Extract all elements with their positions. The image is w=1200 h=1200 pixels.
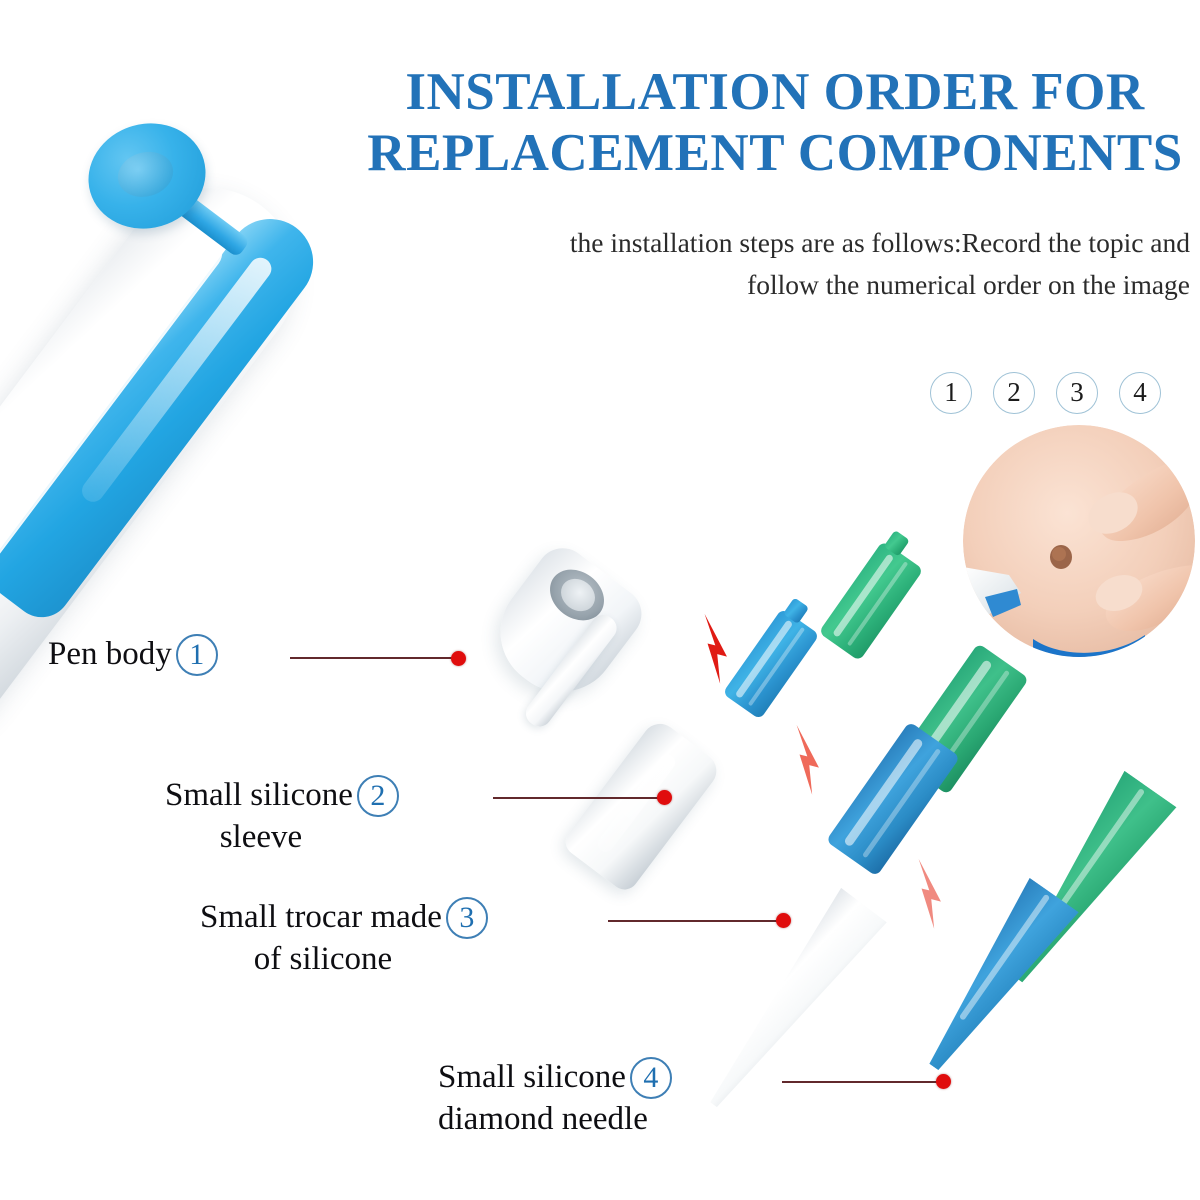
callout-diamond-needle-number[interactable]: 4 [630,1057,672,1099]
leader-dot-4 [936,1074,951,1089]
step-number-row: 1 2 3 4 [930,372,1170,416]
leader-dot-1 [451,651,466,666]
callout-small-silicone-sleeve-number[interactable]: 2 [357,775,399,817]
callout-small-silicone-sleeve-label-line2: sleeve [165,817,399,859]
assembly-arrow-1-icon [684,612,750,690]
step-marker-2[interactable]: 2 [993,372,1035,414]
leader-line-2 [493,797,665,799]
assembly-arrow-2-icon [776,722,842,802]
page-subtitle: the installation steps are as follows:Re… [545,222,1190,306]
skin-mole-removal-photo [963,425,1195,657]
callout-diamond-needle: Small silicone 4 diamond needle [438,1057,690,1141]
leader-dot-3 [776,913,791,928]
step-marker-4[interactable]: 4 [1119,372,1161,414]
page-title: INSTALLATION ORDER FOR REPLACEMENT COMPO… [360,62,1190,185]
step-marker-1[interactable]: 1 [930,372,972,414]
callout-diamond-needle-label-line1: Small silicone [438,1057,626,1099]
callout-small-trocar-label-line2: of silicone [200,939,488,981]
pen-stripe-band [291,348,370,418]
callout-pen-body: Pen body 1 [48,634,218,676]
callout-small-silicone-sleeve: Small silicone 2 sleeve [165,775,399,859]
leader-line-1 [290,657,460,659]
step-marker-3[interactable]: 3 [1056,372,1098,414]
small-green-sleeve [818,541,923,661]
leader-line-4 [782,1081,944,1083]
callout-small-trocar-number[interactable]: 3 [446,897,488,939]
large-blue-sleeve [826,721,961,876]
skin-photo-illustration [963,425,1195,657]
callout-pen-body-label: Pen body [48,634,172,676]
callout-small-silicone-sleeve-label-line1: Small silicone [165,775,353,817]
small-green-sleeve-nub [884,530,910,557]
leader-dot-2 [657,790,672,805]
callout-pen-body-number[interactable]: 1 [176,634,218,676]
infographic-canvas: INSTALLATION ORDER FOR REPLACEMENT COMPO… [0,0,1200,1200]
leader-line-3 [608,920,784,922]
callout-small-trocar-label-line1: Small trocar made [200,897,442,939]
callout-diamond-needle-label-line2: diamond needle [438,1099,690,1141]
assembly-arrow-3-icon [898,856,964,936]
callout-small-trocar: Small trocar made 3 of silicone [200,897,488,981]
